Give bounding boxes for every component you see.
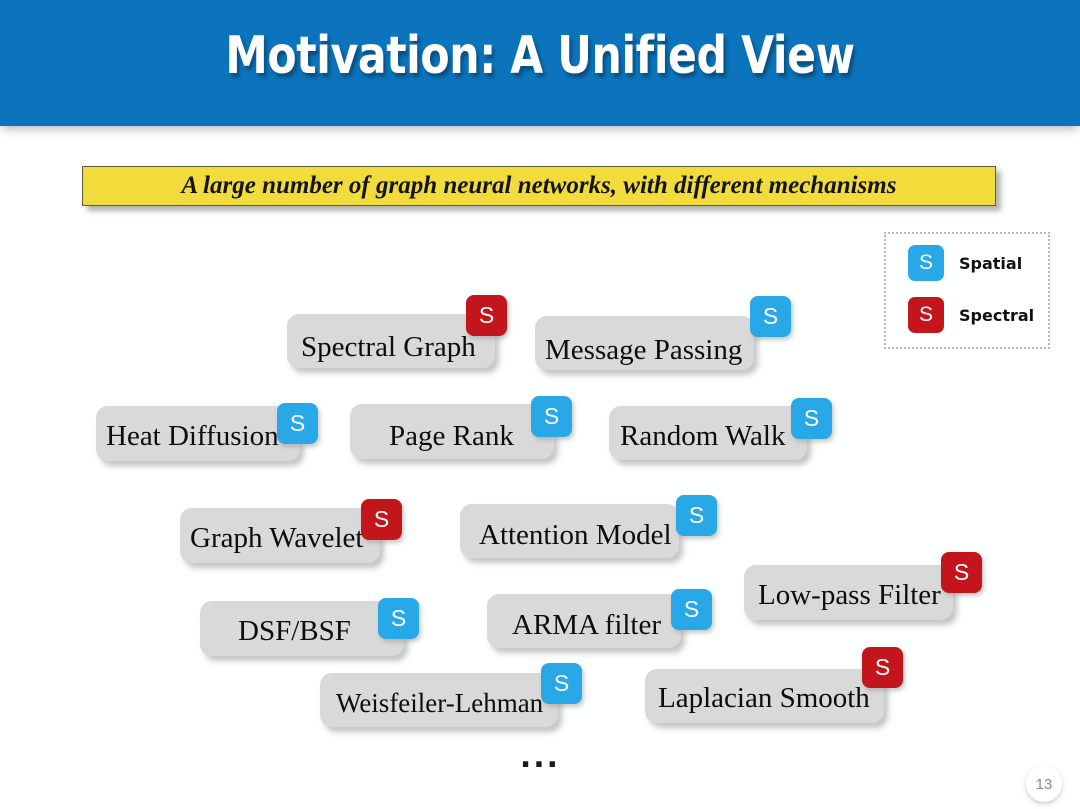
method-label: Graph Wavelet [190, 522, 363, 555]
method-label: Laplacian Smooth [658, 682, 870, 715]
method-box[interactable]: Attention Model [460, 504, 679, 558]
spectral-badge-icon: S [466, 295, 507, 336]
method-box[interactable]: Spectral Graph [287, 314, 495, 368]
method-label: Heat Diffusion [106, 420, 279, 453]
spatial-badge-icon: S [791, 398, 832, 439]
method-label: Spectral Graph [301, 331, 476, 364]
method-box[interactable]: ARMA filter [487, 594, 681, 648]
spectral-badge-icon: S [361, 499, 402, 540]
method-box[interactable]: Weisfeiler-Lehman [320, 673, 558, 727]
spatial-badge-icon: S [531, 396, 572, 437]
method-label: Weisfeiler-Lehman [336, 688, 543, 719]
spectral-badge-icon: S [941, 552, 982, 593]
method-box[interactable]: Low-pass Filter [744, 565, 953, 620]
method-label: Message Passing [545, 334, 742, 367]
method-boxes-group: Spectral GraphSMessage PassingSHeat Diff… [0, 0, 1080, 809]
method-box[interactable]: Message Passing [535, 316, 754, 370]
page-number-badge: 13 [1026, 766, 1062, 802]
spatial-badge-icon: S [277, 403, 318, 444]
spatial-badge-icon: S [676, 495, 717, 536]
method-label: Low-pass Filter [758, 579, 941, 612]
spatial-badge-icon: S [378, 598, 419, 639]
spectral-badge-icon: S [862, 647, 903, 688]
method-label: DSF/BSF [238, 615, 351, 648]
spatial-badge-icon: S [671, 589, 712, 630]
method-box[interactable]: DSF/BSF [200, 601, 404, 656]
method-box[interactable]: Graph Wavelet [180, 508, 380, 563]
spatial-badge-icon: S [541, 663, 582, 704]
method-box[interactable]: Random Walk [609, 406, 807, 460]
method-label: Page Rank [389, 420, 514, 453]
ellipsis-text: ... [0, 740, 1080, 775]
method-label: ARMA filter [512, 609, 661, 642]
method-box[interactable]: Laplacian Smooth [645, 669, 884, 723]
method-box[interactable]: Heat Diffusion [96, 406, 300, 461]
method-box[interactable]: Page Rank [350, 404, 554, 459]
method-label: Attention Model [479, 519, 672, 552]
spatial-badge-icon: S [750, 296, 791, 337]
method-label: Random Walk [620, 420, 785, 453]
